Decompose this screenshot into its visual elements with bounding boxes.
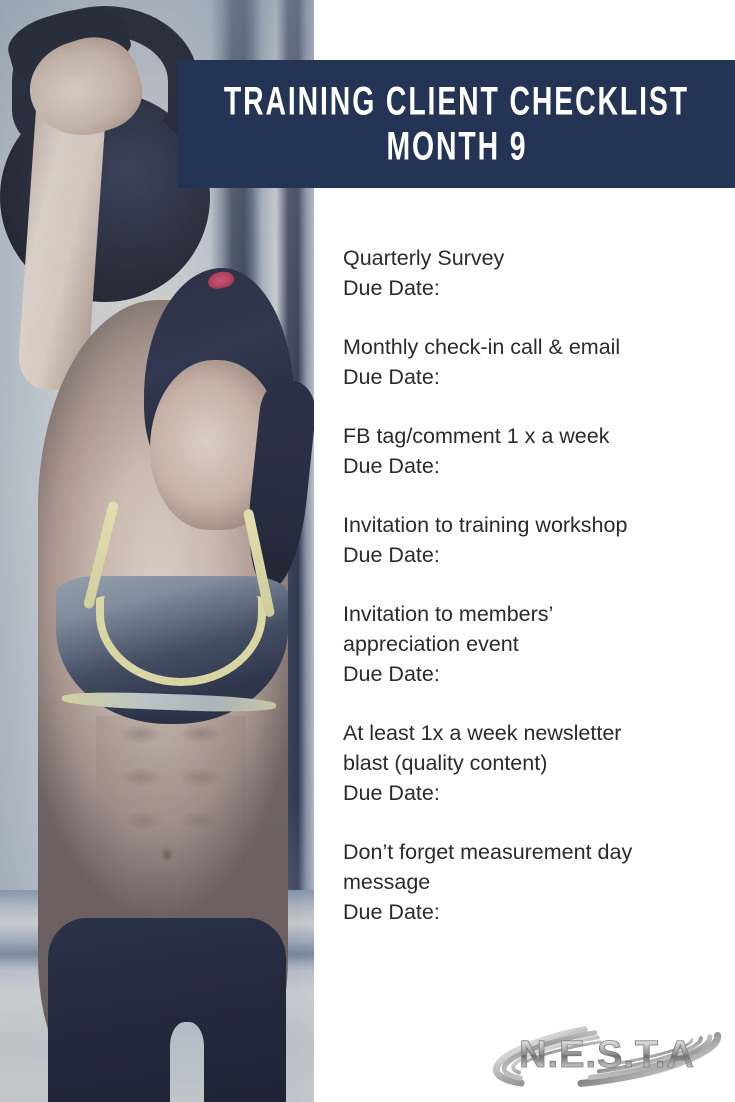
checklist-item-due-date: Due Date: [343,451,713,481]
banner-title-line-2: MONTH 9 [386,119,527,174]
checklist-item: FB tag/comment 1 x a week Due Date: [343,421,713,481]
checklist-item-task-line2: blast (quality content) [343,748,713,778]
checklist-item-task: Invitation to members’ [343,599,713,629]
poster-canvas: TRAINING CLIENT CHECKLIST MONTH 9 Quarte… [0,0,735,1102]
checklist-item-task: Invitation to training workshop [343,510,713,540]
checklist-item-due-date: Due Date: [343,778,713,808]
checklist-item-task: FB tag/comment 1 x a week [343,421,713,451]
checklist-body: Quarterly Survey Due Date: Monthly check… [343,243,713,927]
checklist-item-task: Don’t forget measurement day [343,837,713,867]
checklist-item-task: At least 1x a week newsletter [343,718,713,748]
checklist-item-due-date: Due Date: [343,659,713,689]
checklist-item-task-line2: appreciation event [343,629,713,659]
checklist-item-due-date: Due Date: [343,362,713,392]
nesta-logo: N.E.S.T.A [489,1012,725,1094]
checklist-item-task-line2: message [343,867,713,897]
title-banner: TRAINING CLIENT CHECKLIST MONTH 9 [178,60,735,188]
checklist-item-task: Quarterly Survey [343,243,713,273]
checklist-item-due-date: Due Date: [343,897,713,927]
checklist-item-due-date: Due Date: [343,540,713,570]
checklist-item: Quarterly Survey Due Date: [343,243,713,303]
checklist-item: Monthly check-in call & email Due Date: [343,332,713,392]
checklist-item: At least 1x a week newsletter blast (qua… [343,718,713,808]
checklist-item: Don’t forget measurement day message Due… [343,837,713,927]
checklist-item-task: Monthly check-in call & email [343,332,713,362]
nesta-wordmark: N.E.S.T.A [519,1034,695,1076]
checklist-item: Invitation to members’ appreciation even… [343,599,713,689]
checklist-item: Invitation to training workshop Due Date… [343,510,713,570]
nesta-logo-icon: N.E.S.T.A [489,1012,725,1094]
checklist-item-due-date: Due Date: [343,273,713,303]
